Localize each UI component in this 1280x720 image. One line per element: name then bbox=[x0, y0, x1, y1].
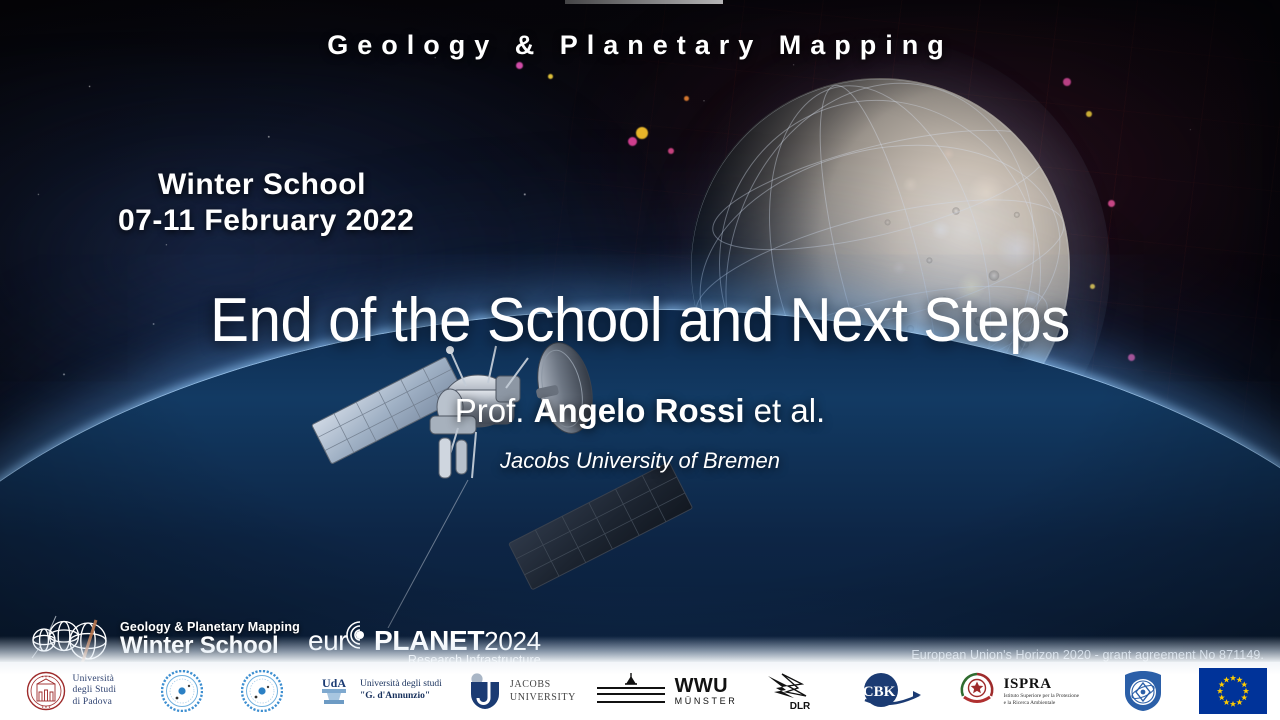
europlanet-prefix: eur bbox=[308, 625, 347, 657]
unipd-text: Università degli Studi di Padova bbox=[73, 674, 117, 709]
dlr-icon: DLR bbox=[758, 670, 820, 712]
presentation-title-slide: Geology & Planetary Mapping Winter Schoo… bbox=[0, 0, 1280, 720]
jacobs-line-2: UNIVERSITY bbox=[510, 691, 576, 704]
unich-line-2: "G. d'Annunzio" bbox=[360, 691, 442, 703]
author-prefix: Prof. bbox=[455, 392, 534, 429]
unipd-line-1: Università bbox=[73, 674, 117, 686]
wwu-castle-icon bbox=[595, 672, 667, 710]
wwu-line-1: WWU bbox=[675, 676, 738, 697]
event-dates: 07-11 February 2022 bbox=[118, 204, 414, 238]
partner-logo-unich: UdA Università degli studi "G. d'Annunzi… bbox=[302, 665, 453, 717]
partner-logo-blue-1 bbox=[142, 665, 222, 717]
unich-line-1: Università degli studi bbox=[360, 679, 442, 691]
winter-school-logo-text: Geology & Planetary Mapping Winter Schoo… bbox=[120, 621, 300, 658]
ispra-line-1: ISPRA bbox=[1004, 676, 1079, 694]
video-progress-bar[interactable] bbox=[565, 0, 723, 4]
europlanet-target-icon bbox=[345, 620, 375, 650]
author-line: Prof. Angelo Rossi et al. bbox=[0, 392, 1280, 430]
europlanet-logo: eur PLANET 2024 Research Infrastructure bbox=[308, 620, 541, 667]
partner-logo-jacobs: JACOBS UNIVERSITY bbox=[453, 665, 590, 717]
partner-logo-strip: ★ ★ ★ ★ ★ ★ Università degli Studi di Pa… bbox=[0, 662, 1280, 720]
unipd-line-2: degli Studi bbox=[73, 685, 117, 697]
cbk-icon: CBK bbox=[849, 670, 923, 712]
dlr-label: DLR bbox=[790, 701, 811, 712]
partner-logo-blue-2 bbox=[222, 665, 302, 717]
cbk-label: CBK bbox=[862, 684, 895, 700]
institute-circular-icon bbox=[161, 670, 203, 712]
ispra-emblem-icon bbox=[957, 670, 997, 712]
wwu-text: WWU MÜNSTER bbox=[675, 676, 738, 706]
uda-icon: UdA bbox=[314, 671, 354, 711]
author-name: Angelo Rossi bbox=[534, 392, 745, 429]
author-suffix: et al. bbox=[745, 392, 826, 429]
jacobs-text: JACOBS UNIVERSITY bbox=[510, 678, 576, 704]
partner-logo-cbk: CBK bbox=[836, 665, 935, 717]
jacobs-shield-icon bbox=[468, 671, 502, 711]
wwu-line-2: MÜNSTER bbox=[675, 697, 738, 706]
unipd-seal-icon: ★ ★ ★ ★ ★ ★ bbox=[26, 671, 66, 711]
ispra-text: ISPRA Istituto Superiore per la Protezio… bbox=[1004, 676, 1079, 706]
unich-text: Università degli studi "G. d'Annunzio" bbox=[360, 679, 442, 703]
slide-title: End of the School and Next Steps bbox=[38, 285, 1241, 356]
partner-logo-blue-3 bbox=[1101, 665, 1186, 717]
institute-emblem-icon bbox=[1121, 669, 1165, 713]
partner-logo-dlr: DLR bbox=[742, 665, 836, 717]
unipd-line-3: di Padova bbox=[73, 697, 117, 709]
jacobs-line-1: JACOBS bbox=[510, 678, 576, 691]
partner-logo-unipd: ★ ★ ★ ★ ★ ★ Università degli Studi di Pa… bbox=[0, 665, 142, 717]
event-block: Winter School 07-11 February 2022 bbox=[118, 168, 414, 238]
funding-note: European Union's Horizon 2020 - grant ag… bbox=[911, 648, 1264, 662]
three-globes-icon bbox=[26, 614, 112, 666]
winter-school-logo-line2: Winter School bbox=[120, 633, 300, 658]
author-affiliation: Jacobs University of Bremen bbox=[0, 448, 1280, 474]
winter-school-logo: Geology & Planetary Mapping Winter Schoo… bbox=[26, 614, 300, 666]
uda-abbr: UdA bbox=[322, 676, 346, 690]
event-name: Winter School bbox=[118, 168, 414, 202]
space-background bbox=[0, 0, 1280, 720]
partner-logo-eu-flag bbox=[1186, 665, 1280, 717]
partner-logo-wwu: WWU MÜNSTER bbox=[590, 665, 741, 717]
ispra-line-2: Istituto Superiore per la Protezione bbox=[1004, 693, 1079, 699]
slide-kicker: Geology & Planetary Mapping bbox=[0, 30, 1280, 61]
vignette bbox=[0, 0, 1280, 720]
ispra-line-3: e la Ricerca Ambientale bbox=[1004, 700, 1079, 706]
partner-logo-ispra: ISPRA Istituto Superiore per la Protezio… bbox=[935, 665, 1100, 717]
institute-circular-icon bbox=[241, 670, 283, 712]
eu-flag-icon bbox=[1199, 668, 1267, 714]
svg-text:★ ★ ★: ★ ★ ★ bbox=[41, 705, 51, 709]
svg-text:★ ★ ★: ★ ★ ★ bbox=[41, 674, 51, 678]
